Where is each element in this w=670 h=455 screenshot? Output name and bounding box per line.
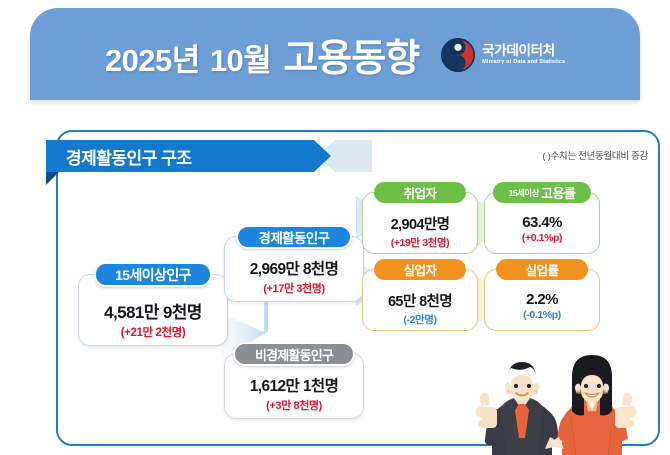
node-unemployed[interactable]: 실업자 65만 8천명 (-2만명) (362, 269, 478, 331)
logo-name-ko: 국가데이터처 (482, 44, 565, 58)
taegeuk-logo-icon (441, 38, 475, 72)
illustration-two-people (462, 337, 652, 455)
footnote: ( )수치는 전년동월대비 증감 (542, 148, 648, 162)
illustration-businessman (475, 362, 559, 455)
node-value-employed: 2,904만명 (363, 213, 477, 234)
page-title: 2025년10월고용동향 (105, 27, 419, 82)
node-population-15plus[interactable]: 15세이상인구 4,581만 9천명 (+21만 2천명) (78, 274, 228, 346)
node-value-not-economically-active: 1,612만 1천명 (225, 374, 363, 396)
node-employed[interactable]: 취업자 2,904만명 (+19만 3천명) (362, 192, 478, 254)
node-label-economically-active: 경제활동인구 (236, 225, 352, 249)
title-year: 2025년 (105, 43, 200, 78)
agency-logo: 국가데이터처 Ministry of Data and Statistics (441, 38, 565, 72)
node-unemployment-rate[interactable]: 실업률 2.2% (-0.1%p) (484, 269, 600, 331)
node-change-unemployment-rate: (-0.1%p) (485, 309, 599, 321)
title-month: 10월 (210, 43, 272, 78)
node-employment-rate[interactable]: 15세이상 고용률 63.4% (+0.1%p) (484, 192, 600, 254)
node-not-economically-active[interactable]: 비경제활동인구 1,612만 1천명 (+3만 8천명) (224, 353, 364, 419)
title-main: 고용동향 (283, 38, 419, 80)
node-change-economically-active: (+17만 3천명) (225, 280, 363, 296)
section-tab: 경제활동인구 구조 (46, 140, 314, 172)
node-label-employed: 취업자 (374, 182, 466, 203)
node-label-employment-rate-main: 고용률 (541, 183, 575, 202)
section-tab-label: 경제활동인구 구조 (66, 144, 191, 169)
node-change-population-15plus: (+21만 2천명) (79, 324, 227, 340)
node-change-unemployed: (-2만명) (363, 312, 477, 327)
logo-name-en: Ministry of Data and Statistics (482, 60, 565, 66)
node-economically-active[interactable]: 경제활동인구 2,969만 8천명 (+17만 3천명) (224, 236, 364, 302)
node-change-employment-rate: (+0.1%p) (485, 232, 599, 244)
node-value-unemployment-rate: 2.2% (485, 291, 599, 308)
node-value-economically-active: 2,969만 8천명 (225, 257, 363, 279)
node-change-employed: (+19만 3천명) (363, 235, 477, 250)
node-change-not-economically-active: (+3만 8천명) (225, 397, 363, 413)
node-value-unemployed: 65만 8천명 (363, 290, 477, 311)
node-label-unemployed: 실업자 (374, 259, 466, 280)
node-value-employment-rate: 63.4% (485, 214, 599, 231)
node-label-employment-rate: 15세이상 고용률 (493, 182, 591, 203)
node-label-not-economically-active: 비경제활동인구 (233, 342, 355, 366)
infographic-page: 2025년10월고용동향 국가데이터처 Ministry of Data and… (0, 0, 670, 455)
illustration-businesswoman (550, 355, 637, 455)
node-value-population-15plus: 4,581만 9천명 (79, 298, 227, 323)
node-label-unemployment-rate: 실업률 (496, 259, 588, 280)
node-label-population-15plus: 15세이상인구 (94, 262, 212, 287)
header-banner: 2025년10월고용동향 국가데이터처 Ministry of Data and… (30, 8, 640, 100)
node-label-employment-rate-prefix: 15세이상 (509, 187, 539, 199)
